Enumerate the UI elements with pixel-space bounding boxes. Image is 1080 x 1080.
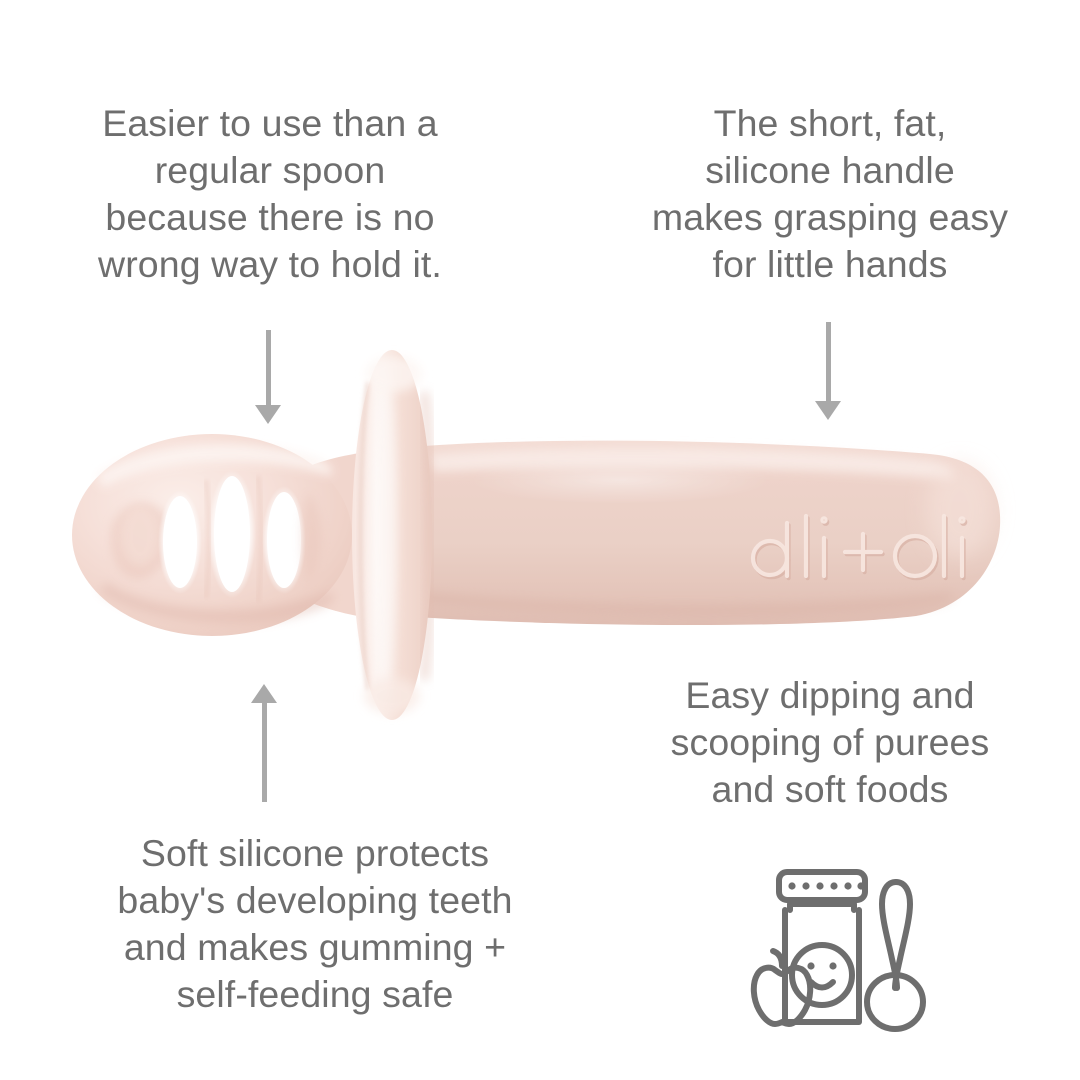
smiley-face-outline [792,945,852,1005]
product-photo-silicone-spoon [0,330,1030,740]
infographic-canvas: Easier to use than a regular spoon becau… [0,0,1080,1080]
jar-neck [790,904,854,910]
apple-stem [773,951,782,966]
smiley-mouth [811,982,833,988]
callout-text-bottom-left: Soft silicone protects baby's developing… [55,830,575,1018]
spoon-icon [867,882,923,1029]
spoon-safety-guard [352,350,432,720]
smiley-eyes [807,962,836,969]
callout-text-top-right: The short, fat, silicone handle makes gr… [600,100,1060,288]
baby-food-jar-apple-spoon-icon [735,862,935,1037]
spoon-head-group [72,434,352,636]
jar-lid-dots [788,882,864,889]
callout-text-top-left: Easier to use than a regular spoon becau… [30,100,510,288]
